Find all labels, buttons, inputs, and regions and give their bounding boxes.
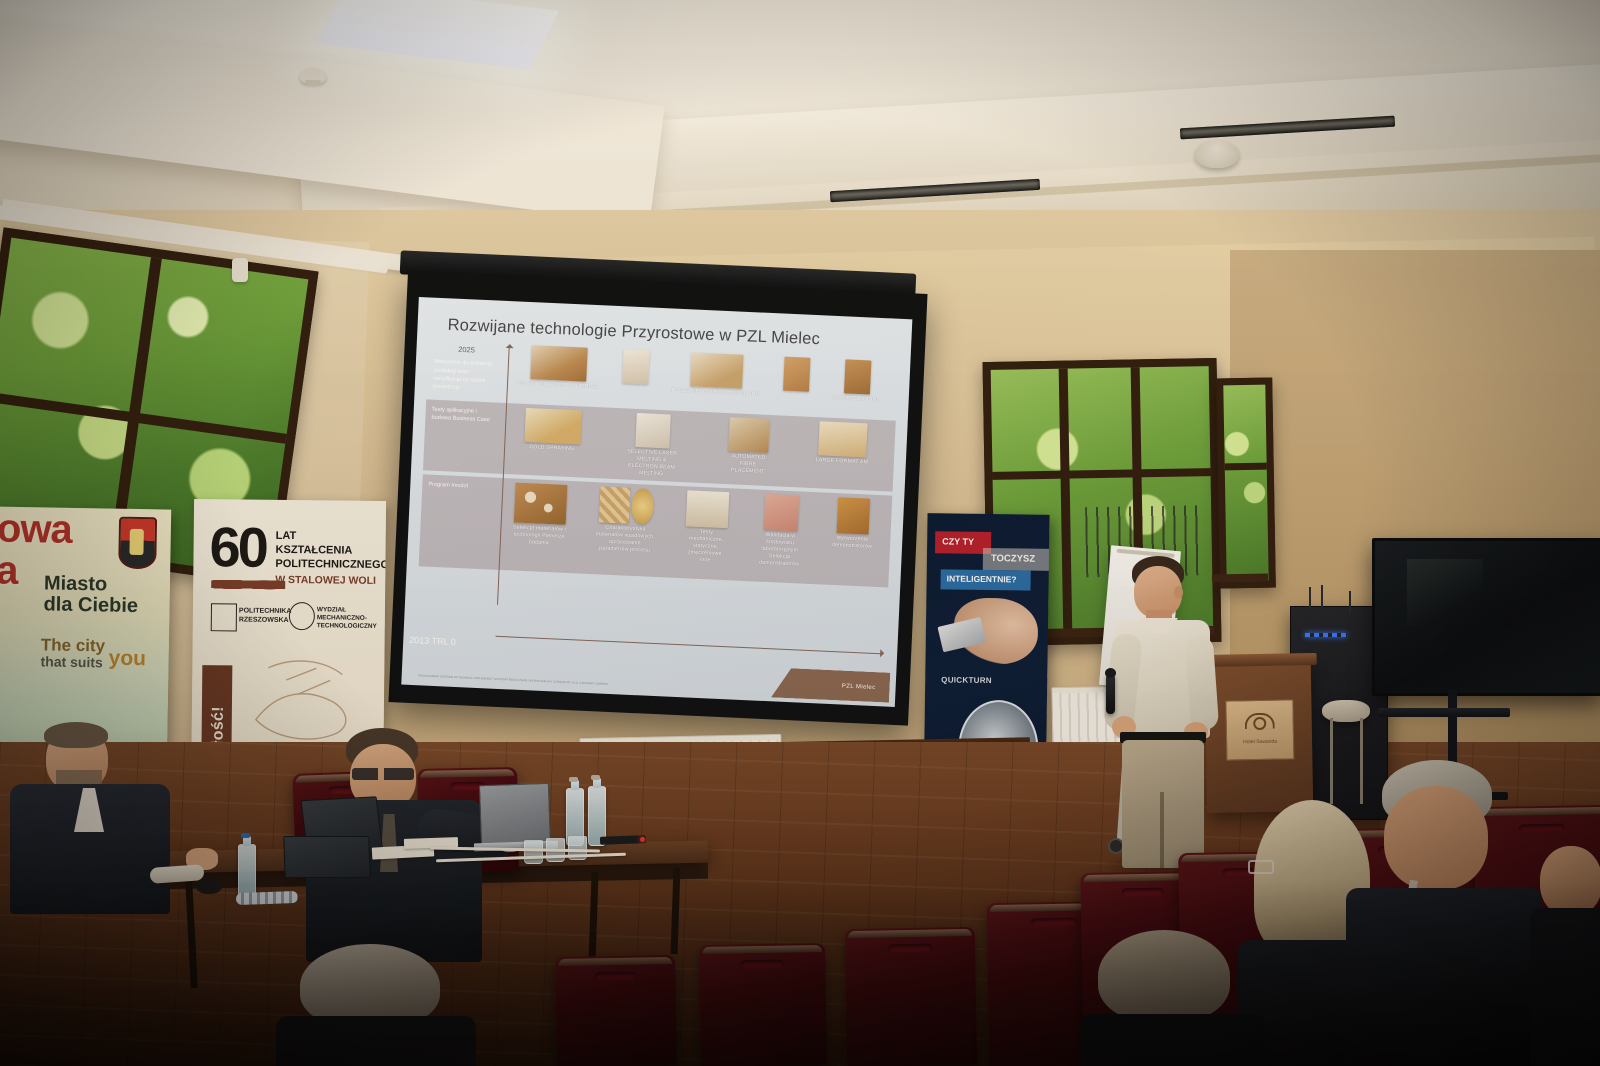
- audience-gray-shoulders: [1346, 888, 1542, 1066]
- slide-row-label: Program Innolot: [419, 474, 497, 569]
- audience-shoulders: [276, 1016, 476, 1066]
- slide-cell: COLD SPRAYING: [524, 408, 582, 454]
- seated-center-glasses-icon: [352, 768, 414, 780]
- slide-caption: LARGE FORMAT AM: [816, 457, 869, 466]
- smoke-detector-icon: [300, 68, 326, 84]
- window-glass-foliage: [1223, 385, 1268, 582]
- audience-right-man: [1540, 846, 1600, 1066]
- slide-thumbnail: [818, 421, 867, 457]
- banner-city-word: lowa: [0, 510, 72, 548]
- banner-city-en2: that suits: [40, 653, 103, 670]
- slide-cell: Selekcja materiałów i technologii Pierws…: [512, 482, 569, 547]
- slide-thumbnail: [514, 482, 568, 524]
- audience-gray-man: [1354, 760, 1534, 1066]
- bottle-cap: [569, 777, 578, 782]
- tv-stand-shelf: [1378, 708, 1510, 717]
- seated-left-hair: [44, 722, 108, 748]
- slide-row-label: 2025 Wdrożenie do wsparcia produkcji ora…: [426, 336, 503, 398]
- slide-footer: THIS DOCUMENT CONTAINS NO TECHNICAL DATA…: [411, 649, 890, 705]
- slide-caption: COLD SPRAYING: [529, 444, 574, 453]
- timeline-axis-horizontal: [496, 636, 884, 655]
- ceiling-speaker-icon: [1195, 140, 1239, 168]
- slide-row-cells: COLD SPRAYING SELECTIVE LASER MELTING & …: [497, 403, 896, 492]
- seated-speaker-left: [10, 726, 200, 946]
- politechnika-logo-icon: [211, 603, 237, 631]
- slide-thumbnail: [729, 417, 771, 453]
- wall-sensor-icon: [232, 258, 248, 282]
- slide-cell: Charakterystyka materiałów wsadowych, op…: [593, 486, 658, 555]
- slide-thumbnail: [635, 413, 671, 449]
- banner-qt-brand: QUICKTURN: [941, 675, 992, 685]
- slide-cell: LARGE FORMAT AM: [816, 421, 870, 466]
- slide-thumbnail: [783, 357, 811, 392]
- presenter: [1096, 556, 1226, 876]
- slide-thumbnail: [690, 352, 743, 388]
- audience-chair: [845, 927, 977, 1066]
- slide-thumbnail: [599, 486, 631, 523]
- audience-chair: [555, 955, 677, 1066]
- wydzial-logo-icon: [289, 602, 315, 630]
- slide-thumbnail: [524, 408, 581, 445]
- banner-qt-line2: TOCZYSZ: [991, 553, 1035, 565]
- slide-caption: Charakterystyka materiałów wsadowych, op…: [593, 524, 656, 555]
- slide-row: Program Innolot Selekcja materiałów i te…: [419, 474, 893, 587]
- banner-qt-tag2: TOCZYSZ: [983, 548, 1050, 571]
- slide-cell: AUTOMATED FIBRE PLACEMENT: [724, 417, 775, 476]
- conference-room-photo: Rozwijane technologie Przyrostowe w PZL …: [0, 0, 1600, 1066]
- audience-blonde-glasses-icon: [1248, 860, 1274, 874]
- slide-cell: Walidacja w środowisku laboratoryjnym Se…: [755, 493, 806, 568]
- slide-caption: FUSED DEPOSITION MODELLING: [671, 388, 759, 399]
- banner-60-line4: W STALOWEJ WOLI: [275, 574, 376, 587]
- slide-cell: SELECTIVE LASER MELTING & ELECTRON BEAM …: [622, 412, 683, 479]
- slide-caption: AUTOMATED FIBRE PLACEMENT: [724, 453, 773, 476]
- banner-city-word2: la: [0, 552, 18, 589]
- banner-60-line2: KSZTAŁCENIA: [276, 544, 353, 557]
- slide-cell: Testy mechaniczne, statyczne, zmęczeniow…: [683, 490, 730, 565]
- banner-wings-icon: [211, 577, 285, 592]
- slide-caption: Testy mechaniczne, statyczne, zmęczeniow…: [683, 528, 729, 565]
- audience-right-shoulders: [1530, 908, 1600, 1066]
- slide-row-cells: Selekcja materiałów i technologii Pierws…: [493, 478, 893, 588]
- slide-thumbnail: [844, 359, 872, 394]
- presentation-slide: Rozwijane technologie Przyrostowe w PZL …: [401, 297, 912, 707]
- banner-60-line3: POLITECHNICZNEGO: [275, 558, 386, 571]
- lectern-plate-text: Hotel Sawanda: [1235, 739, 1285, 746]
- rack-led-indicator: [1305, 633, 1347, 637]
- slide-caption: SELECTIVE LASER SINTERING: [517, 380, 599, 391]
- city-crest-icon: [118, 517, 157, 570]
- slide-cell: SELECTIVE LASER SINTERING: [517, 345, 601, 392]
- antenna-icon: [1349, 591, 1351, 613]
- audience-front-hair: [1098, 930, 1230, 1022]
- banner-qt-line3: INTELIGENTNIE?: [947, 573, 1017, 584]
- stool-leg: [1330, 718, 1333, 804]
- slide-disclaimer: THIS DOCUMENT CONTAINS NO TECHNICAL DATA…: [418, 674, 770, 694]
- slide-cell: FUSED DEPOSITION MODELLING: [671, 352, 761, 399]
- slide-caption: Wytworzenie demonstratorów: [832, 535, 873, 551]
- slide-thumbnail: [764, 494, 800, 532]
- projection-screen: Rozwijane technologie Przyrostowe w PZL …: [388, 270, 927, 725]
- mouse-icon: [196, 878, 222, 894]
- cable-coil: [236, 891, 298, 905]
- banner-qt-line1: CZY TY: [942, 536, 974, 546]
- presenter-arm-right: [1185, 635, 1219, 731]
- audience-front-shoulders: [1080, 1014, 1266, 1066]
- slide-caption: SELECTIVE LASER MELTING & ELECTRON BEAM …: [622, 448, 681, 479]
- slide-caption: LASER CLADDING: [833, 395, 881, 404]
- bottle-cap: [241, 833, 250, 838]
- audience-right-head: [1540, 846, 1600, 916]
- microphone: [1106, 674, 1115, 714]
- antenna-icon: [1309, 587, 1311, 609]
- slide-row-year: 2025: [434, 343, 498, 357]
- slide-thumbnail: [686, 490, 730, 528]
- slide-thumbnail: [622, 349, 650, 384]
- slide-trl-label: 2013 TRL 0: [409, 635, 456, 647]
- power-strip-led: [640, 837, 645, 842]
- audience-chair: [699, 943, 827, 1066]
- banner-city-pl: Miasto dla Ciebie: [43, 573, 138, 617]
- presenter-trouser-split: [1160, 792, 1164, 868]
- banner-logo-right-text: WYDZIAŁ MECHANICZNO- TECHNOLOGICZNY: [317, 606, 377, 631]
- drinking-glass: [524, 840, 543, 864]
- slide-cell: [783, 357, 811, 392]
- bottle-cap: [591, 775, 600, 780]
- slide-cell: LASER CLADDING: [833, 359, 883, 404]
- water-bottle: [238, 844, 256, 898]
- slide-cell: Wytworzenie demonstratorów: [832, 497, 874, 551]
- banner-city-en3: you: [108, 647, 146, 672]
- banner-60-line1: LAT: [276, 530, 297, 542]
- banner-60-number: 60: [209, 525, 266, 570]
- slide-thumbnail: [837, 497, 871, 534]
- presenter-ear-icon: [1174, 586, 1183, 599]
- slide-caption: Walidacja w środowisku laboratoryjnym Se…: [755, 531, 805, 568]
- banner-qt-tag3: INTELIGENTNIE?: [940, 569, 1030, 590]
- tv-reflection: [1407, 559, 1484, 626]
- antenna-icon: [1321, 585, 1323, 607]
- audience-gray-head: [1384, 786, 1488, 890]
- slide-caption: Selekcja materiałów i technologii Pierws…: [512, 524, 567, 547]
- audience-front-left: [286, 944, 466, 1066]
- slide-thumbnail: [530, 345, 587, 382]
- slide-thumbnail: [631, 488, 655, 525]
- banner-logo-left-text: POLITECHNIKA RZESZOWSKA: [239, 607, 292, 625]
- slide-row-label: Testy aplikacyjne i budowa Business Case: [423, 399, 500, 473]
- lectern-crest-plate: Hotel Sawanda: [1225, 699, 1294, 760]
- slide-cell: [622, 349, 650, 384]
- projection-surface: Rozwijane technologie Przyrostowe w PZL …: [401, 297, 912, 707]
- flat-screen-tv: [1372, 538, 1600, 696]
- audience-front-center: [1092, 930, 1252, 1066]
